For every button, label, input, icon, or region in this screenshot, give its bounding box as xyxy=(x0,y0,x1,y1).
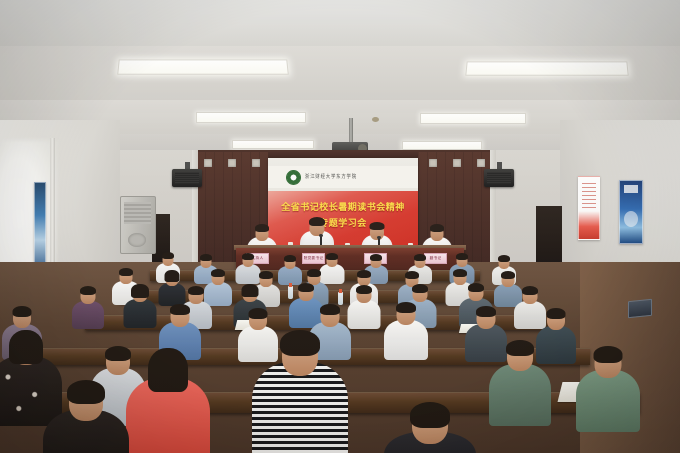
accent-tile xyxy=(252,159,260,167)
accent-tile xyxy=(204,159,212,167)
water-bottle xyxy=(338,292,343,305)
accent-tile xyxy=(429,159,437,167)
meeting-hall-photo: 浙江财经大学东方学院 全省书记校长暑期读书会精神 专题学习会 主持人 院党委 xyxy=(0,0,680,453)
ceiling-light xyxy=(232,140,314,149)
speaker-bracket-left xyxy=(185,162,190,169)
name-placard: 院党委书记 xyxy=(302,253,325,264)
speaker-bracket-right xyxy=(497,162,502,169)
wall-speaker-left xyxy=(172,169,202,187)
ceiling-light xyxy=(196,112,306,123)
smoke-detector-icon xyxy=(372,117,379,122)
university-seal-icon xyxy=(286,170,301,185)
banner-line-1: 全省书记校长暑期读书会精神 xyxy=(281,200,405,213)
air-conditioner xyxy=(120,196,156,254)
accent-tile xyxy=(477,159,485,167)
projector-mount-pole xyxy=(349,118,353,144)
laptop xyxy=(628,299,652,319)
ceiling-light xyxy=(420,113,526,124)
wall-pilaster-left xyxy=(192,150,198,268)
accent-tile xyxy=(228,159,236,167)
ceiling-light xyxy=(117,59,289,74)
wall-speaker-right xyxy=(484,169,514,187)
university-name: 浙江财经大学东方学院 xyxy=(305,174,357,181)
water-bottle xyxy=(288,286,293,299)
ceiling-light xyxy=(402,141,482,150)
wall-poster-blue xyxy=(619,180,643,244)
screen-logo-bar: 浙江财经大学东方学院 xyxy=(268,166,418,188)
name-placard: 副书记 xyxy=(424,253,447,264)
wall-poster-red xyxy=(578,176,600,240)
ceiling-light xyxy=(465,61,628,75)
accent-tile xyxy=(453,159,461,167)
wall-pilaster-right xyxy=(490,150,496,268)
ceiling-soffit xyxy=(0,0,680,48)
